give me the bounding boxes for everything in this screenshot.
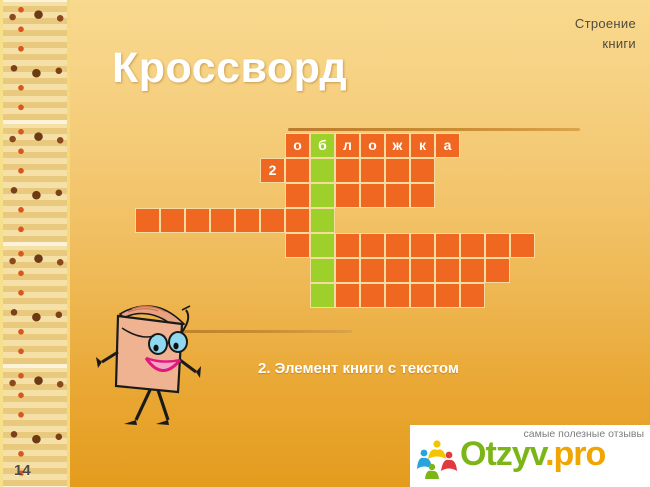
crossword-cell-r1-c9[interactable] [360,158,385,183]
crossword-cell-letter-л[interactable]: л [335,133,360,158]
watermark-brand: Otzyv.pro [460,437,605,471]
crossword-cell-letter-а[interactable]: а [435,133,460,158]
crossword-cell-r4-c12[interactable] [435,233,460,258]
crossword-cell-letter-о[interactable]: о [285,133,310,158]
crossword-cell-r3-c1[interactable] [160,208,185,233]
crossword-letter: к [411,134,434,157]
crossword-letter: ж [386,134,409,157]
mascot-antenna [182,310,188,332]
crossword-cell-r3-c7[interactable] [310,208,335,233]
crossword-cell-r5-c11[interactable] [410,258,435,283]
mascot-arm-right [180,360,196,372]
crossword-cell-r4-c10[interactable] [385,233,410,258]
crossword-cell-r1-c10[interactable] [385,158,410,183]
crossword-cell-r2-c9[interactable] [360,183,385,208]
crossword-cell-r2-c8[interactable] [335,183,360,208]
crossword-cell-r6-c12[interactable] [435,283,460,308]
crossword-cell-r3-c4[interactable] [235,208,260,233]
crossword-cell-r5-c12[interactable] [435,258,460,283]
crossword-letter: о [361,134,384,157]
crossword-cell-r5-c13[interactable] [460,258,485,283]
crossword-cell-r4-c11[interactable] [410,233,435,258]
crossword-cell-r4-c13[interactable] [460,233,485,258]
mascot-hand-right [196,366,201,378]
crossword-cell-r3-c2[interactable] [185,208,210,233]
crossword-cell-r3-c6[interactable] [285,208,310,233]
crossword-cell-r4-c9[interactable] [360,233,385,258]
clue-text: 2. Элемент книги с текстом [258,360,459,377]
crossword-cell-letter-б[interactable]: б [310,133,335,158]
crossword-cell-r6-c10[interactable] [385,283,410,308]
crossword-cell-r2-c10[interactable] [385,183,410,208]
mascot-pupil-right [173,343,178,350]
watermark-brand-first: Otzyv [460,435,545,473]
mascot-hand-left [96,357,102,368]
slide-canvas: 14 Строение книги Кроссворд обложка2 2. … [0,0,650,487]
crossword-cell-r5-c8[interactable] [335,258,360,283]
crossword-cell-r4-c15[interactable] [510,233,535,258]
crossword-cell-r4-c14[interactable] [485,233,510,258]
crossword-cell-letter-о[interactable]: о [360,133,385,158]
mascot-leg-left [136,390,150,420]
mascot-arm-left [102,352,118,362]
mascot-body [116,316,182,392]
crossword-cell-r5-c14[interactable] [485,258,510,283]
crossword-cell-r1-c11[interactable] [410,158,435,183]
crossword-cell-r1-c6[interactable] [285,158,310,183]
crossword-cell-r6-c11[interactable] [410,283,435,308]
people-logo-icon [416,439,458,479]
crossword-cell-r3-c3[interactable] [210,208,235,233]
crossword-cell-r6-c9[interactable] [360,283,385,308]
crossword-letter: л [336,134,359,157]
crossword-cell-r6-c7[interactable] [310,283,335,308]
mascot-pupil-left [153,345,158,352]
watermark-brand-second: .pro [545,435,605,473]
crossword-cell-r3-c0[interactable] [135,208,160,233]
mascot-foot-right [156,420,169,425]
crossword-cell-r5-c9[interactable] [360,258,385,283]
crossword-cell-number-2[interactable]: 2 [260,158,285,183]
crossword-letter: а [436,134,459,157]
crossword-cell-r3-c5[interactable] [260,208,285,233]
page-number: 14 [14,462,31,479]
mascot-leg-right [158,390,168,420]
watermark-banner: самые полезные отзывы Otzyv.pro [410,425,650,487]
crossword-cell-r5-c7[interactable] [310,258,335,283]
crossword-cell-r4-c8[interactable] [335,233,360,258]
crossword-cell-r6-c13[interactable] [460,283,485,308]
crossword-letter: о [286,134,309,157]
crossword-cell-letter-ж[interactable]: ж [385,133,410,158]
crossword-letter: б [311,134,334,157]
crossword-cell-r2-c6[interactable] [285,183,310,208]
crossword-cell-r1-c8[interactable] [335,158,360,183]
crossword-cell-r6-c8[interactable] [335,283,360,308]
book-character-mascot [96,298,211,426]
crossword-cell-r1-c7[interactable] [310,158,335,183]
crossword-clue-number: 2 [261,159,284,182]
logo-figure-yellow [428,440,446,459]
crossword-cell-r5-c10[interactable] [385,258,410,283]
crossword-cell-r2-c11[interactable] [410,183,435,208]
crossword-cell-r2-c7[interactable] [310,183,335,208]
mascot-glass-right [169,332,187,352]
mascot-antenna-tip [182,306,190,310]
crossword-cell-r4-c6[interactable] [285,233,310,258]
crossword-cell-r4-c7[interactable] [310,233,335,258]
crossword-cell-letter-к[interactable]: к [410,133,435,158]
mascot-foot-left [124,420,137,425]
